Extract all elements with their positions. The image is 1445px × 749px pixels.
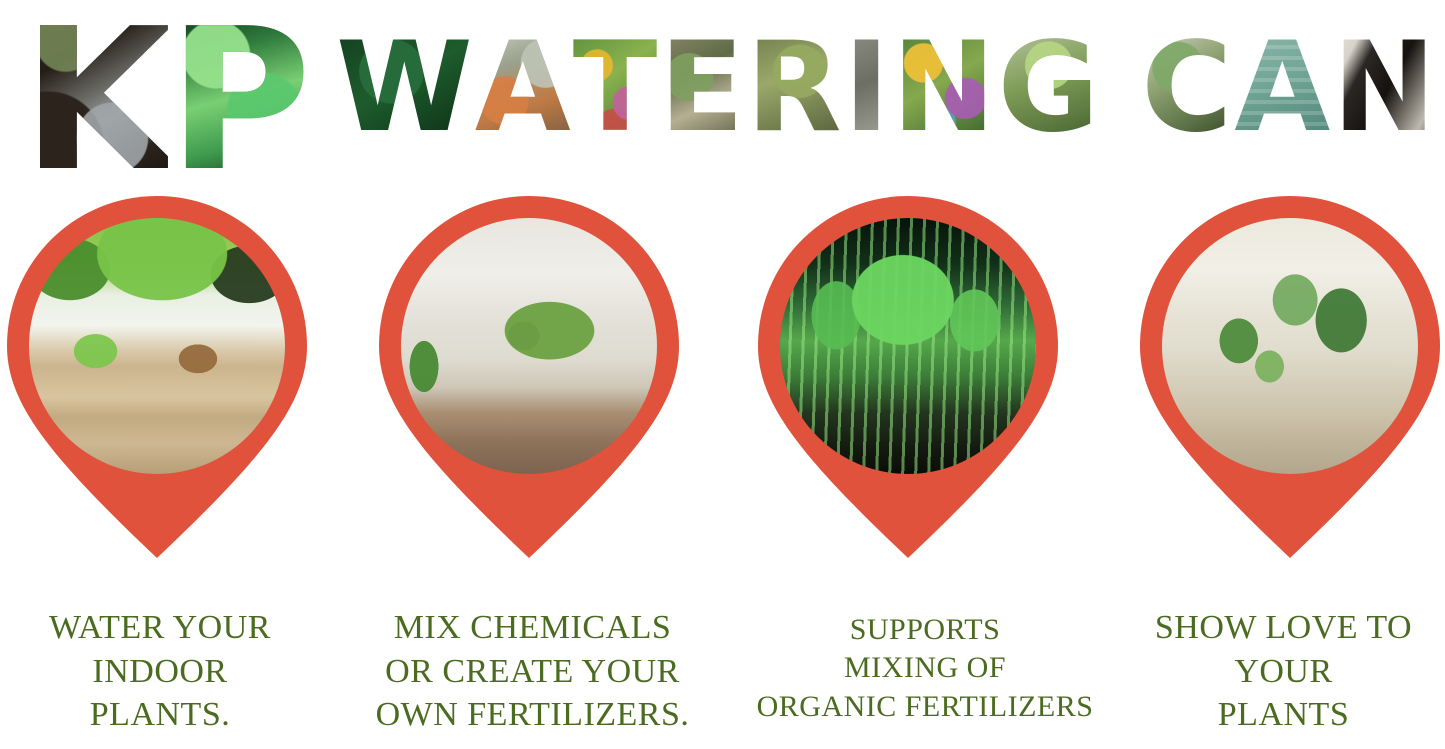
title-letter-k: K [22,8,168,194]
pin-photo-plant-filled-interior [1162,218,1418,474]
title-letter-n2: N [1332,30,1438,148]
title-letter-w: W [336,30,475,148]
feature-caption-organic-fertilizers: SUPPORTS MIXING OF ORGANIC FERTILIZERS [745,611,1105,726]
feature-pin-show-love [1140,196,1440,558]
title-letter-p: P [168,8,306,194]
pin-photo-indoor-greenhouse [401,218,657,474]
title-letter-a1: A [475,30,573,148]
feature-pin-mix-chemicals [379,196,679,558]
brand-title-banner: K P W A T E R I N G C A N [0,0,1445,190]
feature-caption-show-love: SHOW LOVE TO YOUR PLANTS [1122,606,1445,737]
title-letter-r: R [746,30,843,148]
brand-mark-kp: K P [22,8,306,194]
title-letter-g: G [997,30,1101,148]
pin-photo-indoor-plant-shelf [29,218,285,474]
feature-pin-water-indoor-plants [7,196,307,558]
feature-pin-organic-fertilizers [758,196,1058,558]
title-letter-t: T [573,30,660,148]
feature-caption-water-indoor-plants: WATER YOUR INDOOR PLANTS. [0,606,320,737]
feature-caption-mix-chemicals: MIX CHEMICALS OR CREATE YOUR OWN FERTILI… [355,606,710,737]
pin-photo-microgreens-seedlings [780,218,1036,474]
product-name-watering-can: W A T E R I N G C A N [336,30,1438,148]
title-letter-n1: N [892,30,998,148]
title-letter-c: C [1141,30,1234,148]
title-letter-a2: A [1234,30,1332,148]
title-letter-i: I [844,30,892,148]
title-letter-e: E [659,30,746,148]
